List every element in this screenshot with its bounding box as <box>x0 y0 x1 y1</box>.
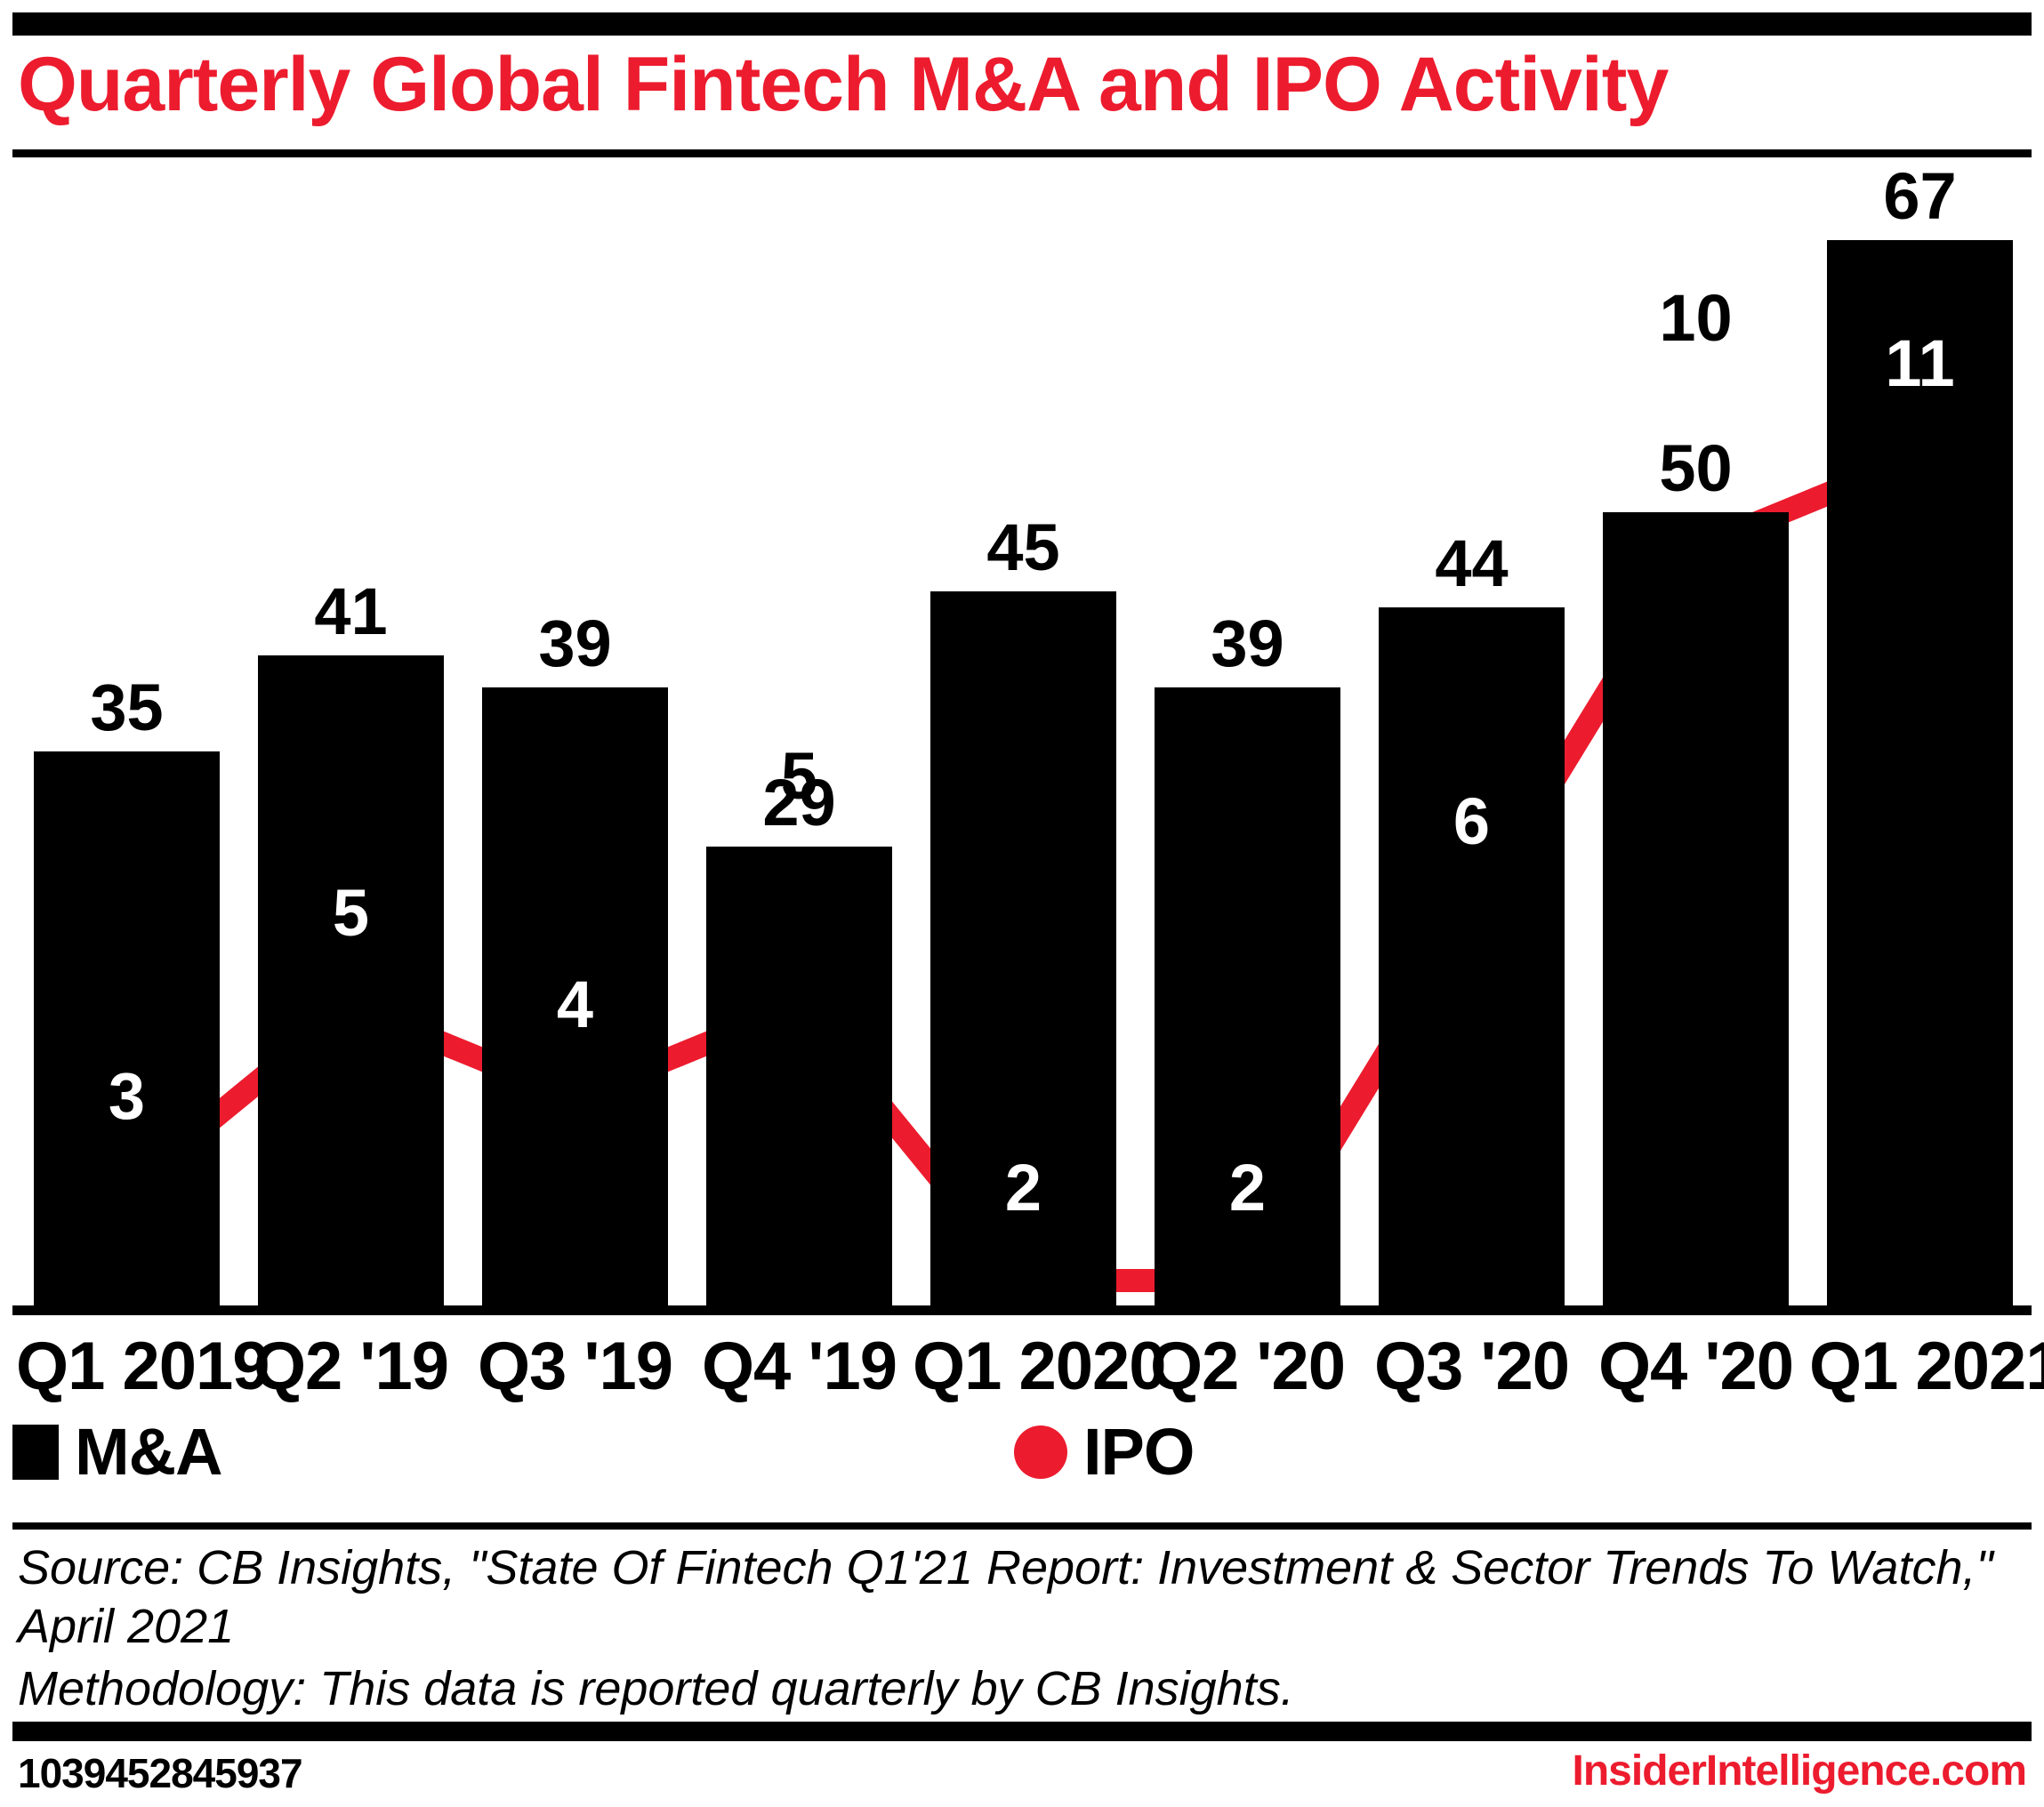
x-tick-label-q4-19: Q4 '19 <box>688 1327 910 1407</box>
title-underline-rule <box>12 149 2032 157</box>
ipo-value-label: 6 <box>1356 789 1588 855</box>
ipo-value-label: 11 <box>1805 331 2036 397</box>
x-tick-label-q1-2021: Q1 2021 <box>1809 1327 2031 1407</box>
bar-q1-2021 <box>1827 240 2013 1310</box>
ipo-value-label: 4 <box>460 972 691 1038</box>
legend-label: IPO <box>1083 1419 1194 1485</box>
bar-q1-2019 <box>34 751 220 1310</box>
x-tick-label-q4-20: Q4 '20 <box>1585 1327 1807 1407</box>
bar-value-label: 35 <box>0 675 255 741</box>
legend-circle-icon <box>1014 1426 1067 1479</box>
bar-value-label: 44 <box>1343 531 1600 597</box>
ipo-value-label: 5 <box>236 880 467 946</box>
legend-square-icon <box>12 1425 59 1480</box>
x-tick-label-q2-20: Q2 '20 <box>1137 1327 1358 1407</box>
legend-item-ipo[interactable]: IPO <box>1014 1419 1194 1485</box>
bar-q4-19 <box>706 847 892 1310</box>
x-tick-label-q3-19: Q3 '19 <box>464 1327 686 1407</box>
bar-value-label: 39 <box>447 611 704 677</box>
x-tick-label-q2-19: Q2 '19 <box>240 1327 462 1407</box>
bar-value-label: 39 <box>1119 611 1376 677</box>
footer-site-link[interactable]: InsiderIntelligence.com <box>1573 1748 2026 1795</box>
ipo-value-label: 10 <box>1581 285 1812 351</box>
x-axis-tick-labels: Q1 2019Q2 '19Q3 '19Q4 '19Q1 2020Q2 '20Q3… <box>0 1327 2044 1407</box>
x-tick-label-q1-2019: Q1 2019 <box>16 1327 237 1407</box>
legend-item-m-a[interactable]: M&A <box>12 1419 222 1485</box>
ipo-value-label: 3 <box>12 1064 243 1129</box>
ipo-value-label: 2 <box>908 1155 1139 1221</box>
bar-value-label: 45 <box>895 515 1152 581</box>
bar-value-label: 50 <box>1567 436 1824 502</box>
chart-plot-area: 35413929453944506735452261011 <box>0 157 2044 1313</box>
footer-id: 1039452845937 <box>18 1750 302 1796</box>
bar-q4-20 <box>1603 512 1789 1311</box>
methodology-note: Methodology: This data is reported quart… <box>18 1659 2010 1718</box>
page-title: Quarterly Global Fintech M&A and IPO Act… <box>18 36 2026 133</box>
ipo-value-label: 2 <box>1132 1155 1364 1221</box>
source-note: Source: CB Insights, "State Of Fintech Q… <box>18 1538 2010 1656</box>
bar-value-label: 67 <box>1791 164 2044 229</box>
top-rule <box>12 12 2032 36</box>
x-axis-line <box>12 1305 2032 1315</box>
chart-legend: M&AIPO <box>0 1419 2044 1496</box>
bar-q2-19 <box>258 655 444 1310</box>
x-tick-label-q3-20: Q3 '20 <box>1361 1327 1582 1407</box>
footer-rule <box>12 1722 2032 1741</box>
bar-q3-20 <box>1379 607 1565 1310</box>
bar-value-label: 41 <box>222 579 479 645</box>
source-divider-rule <box>12 1522 2032 1530</box>
ipo-value-label: 5 <box>684 743 915 809</box>
legend-label: M&A <box>75 1419 222 1485</box>
x-tick-label-q1-2020: Q1 2020 <box>913 1327 1134 1407</box>
